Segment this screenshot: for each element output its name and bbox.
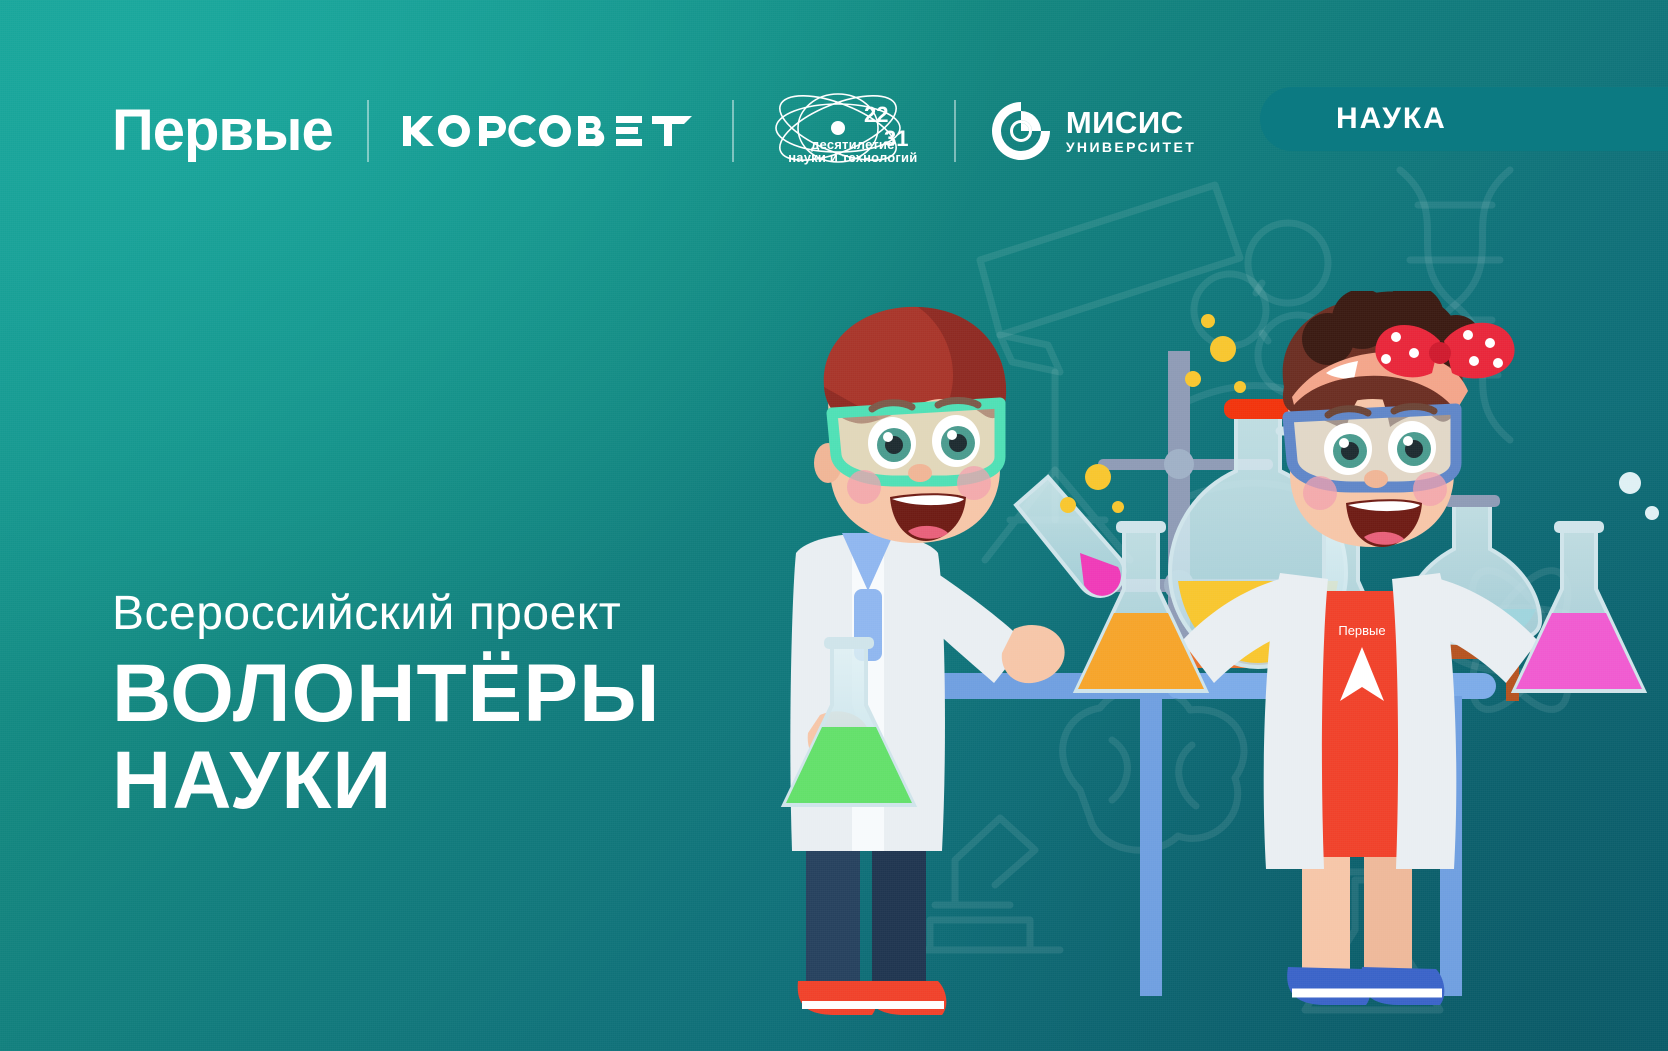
headline-eyebrow: Всероссийский проект — [112, 588, 660, 641]
misis-name: МИСИС — [1066, 107, 1196, 140]
logo-decade-of-science[interactable]: 22 31 десятилетие науки и технологий — [768, 92, 920, 170]
category-badge[interactable]: НАУКА — [1260, 87, 1668, 151]
pervye-wordmark: Первые — [112, 102, 333, 160]
children-scientists-illustration: Первые — [768, 291, 1668, 1051]
decade-year-start: 22 — [864, 102, 888, 127]
korsovet-wordmark-icon — [403, 114, 609, 148]
category-badge-label: НАУКА — [1336, 102, 1447, 136]
logo-korsovet[interactable]: КОРСОВЕТ — [403, 92, 698, 170]
test-tube — [1016, 477, 1124, 596]
korsovet-et-icon — [616, 114, 698, 148]
misis-mark-icon — [990, 100, 1052, 162]
partner-logos: Первые КОРСОВЕТ — [112, 92, 1196, 170]
bubbles — [1185, 314, 1246, 393]
decade-line2: науки и технологий — [778, 151, 928, 164]
decade-caption: десятилетие науки и технологий — [778, 138, 928, 165]
headline-title: ВОЛОНТЁРЫ НАУКИ — [112, 651, 660, 825]
pink-flask — [1514, 472, 1659, 691]
misis-subtitle: УНИВЕРСИТЕТ — [1066, 140, 1196, 155]
logo-divider-3 — [954, 100, 956, 162]
promo-banner: Первые — [0, 0, 1668, 1051]
headline-block: Всероссийский проект ВОЛОНТЁРЫ НАУКИ — [112, 588, 660, 825]
logo-divider-2 — [732, 100, 734, 162]
headline-line-1: ВОЛОНТЁРЫ — [112, 651, 660, 738]
boy-character — [784, 307, 1124, 1015]
logo-divider — [367, 100, 369, 162]
headline-line-2: НАУКИ — [112, 738, 660, 825]
misis-text: МИСИС УНИВЕРСИТЕТ — [1066, 107, 1196, 154]
logo-pervye[interactable]: Первые — [112, 92, 333, 170]
logo-misis[interactable]: МИСИС УНИВЕРСИТЕТ — [990, 92, 1196, 170]
shirt-logo-text: Первые — [1338, 623, 1385, 638]
decade-line1: десятилетие — [778, 138, 928, 151]
